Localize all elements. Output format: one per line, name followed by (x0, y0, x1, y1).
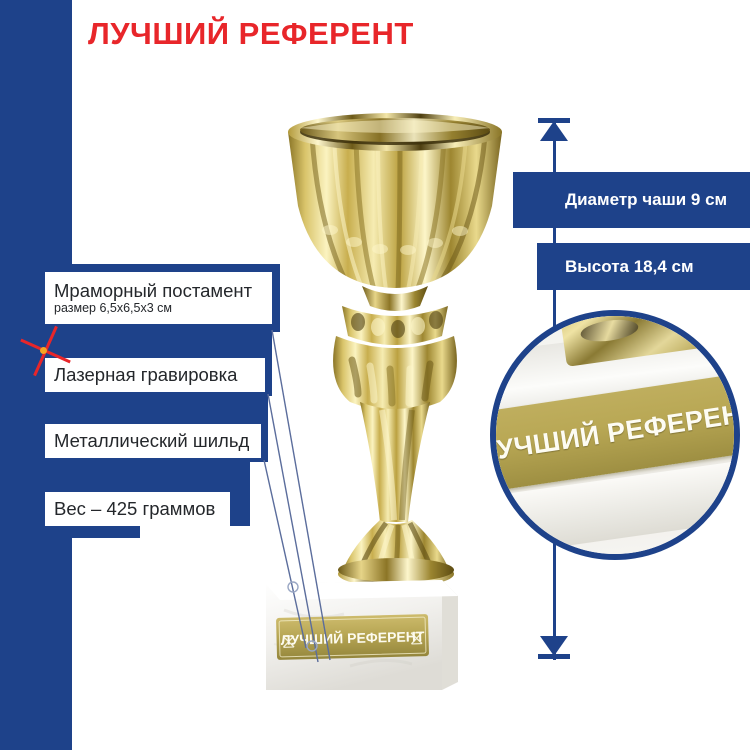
label-weight: Вес – 425 граммов (45, 492, 230, 526)
red-cross-icon (18, 326, 70, 376)
label-marble-pedestal: Мраморный постамент размер 6,5х6,5х3 см (45, 272, 272, 324)
magnifier-content: ⧖ ЛУЧШИЙ РЕФЕРЕНТ ⧖ (490, 310, 740, 560)
label-marble-pedestal-line2: размер 6,5х6,5х3 см (54, 302, 272, 315)
label-height: Высота 18,4 см (537, 243, 750, 290)
svg-text:⧖: ⧖ (281, 630, 296, 652)
dimension-arrow-up-icon (540, 121, 568, 141)
dimension-arrow-down-icon (540, 636, 568, 656)
label-height-text: Высота 18,4 см (565, 257, 694, 277)
svg-text:⧖: ⧖ (409, 627, 424, 649)
label-weight-line1: Вес – 425 граммов (54, 499, 230, 519)
label-metal-shield: Металлический шильд (45, 424, 261, 458)
blue-step-5 (0, 526, 140, 538)
trophy-image: ЛУЧШИЙ РЕФЕРЕНТ ⧖ ⧖ (230, 110, 530, 690)
label-marble-pedestal-line1: Мраморный постамент (54, 281, 272, 301)
magnifier-circle: ⧖ ЛУЧШИЙ РЕФЕРЕНТ ⧖ (490, 310, 740, 560)
dimension-arrow-cap-bottom (538, 654, 570, 659)
cross-center-dot (40, 347, 47, 354)
label-bowl-diameter-text: Диаметр чаши 9 см (565, 190, 727, 210)
magnifier-nameplate-text: ЛУЧШИЙ РЕФЕРЕНТ (490, 396, 740, 469)
label-metal-shield-line1: Металлический шильд (54, 431, 261, 451)
page-title: ЛУЧШИЙ РЕФЕРЕНТ (88, 16, 414, 52)
label-laser-engraving: Лазерная гравировка (45, 358, 265, 392)
label-bowl-diameter: Диаметр чаши 9 см (513, 172, 750, 228)
label-laser-engraving-line1: Лазерная гравировка (54, 365, 265, 385)
poster-canvas: ЛУЧШИЙ РЕФЕРЕНТ (0, 0, 750, 750)
